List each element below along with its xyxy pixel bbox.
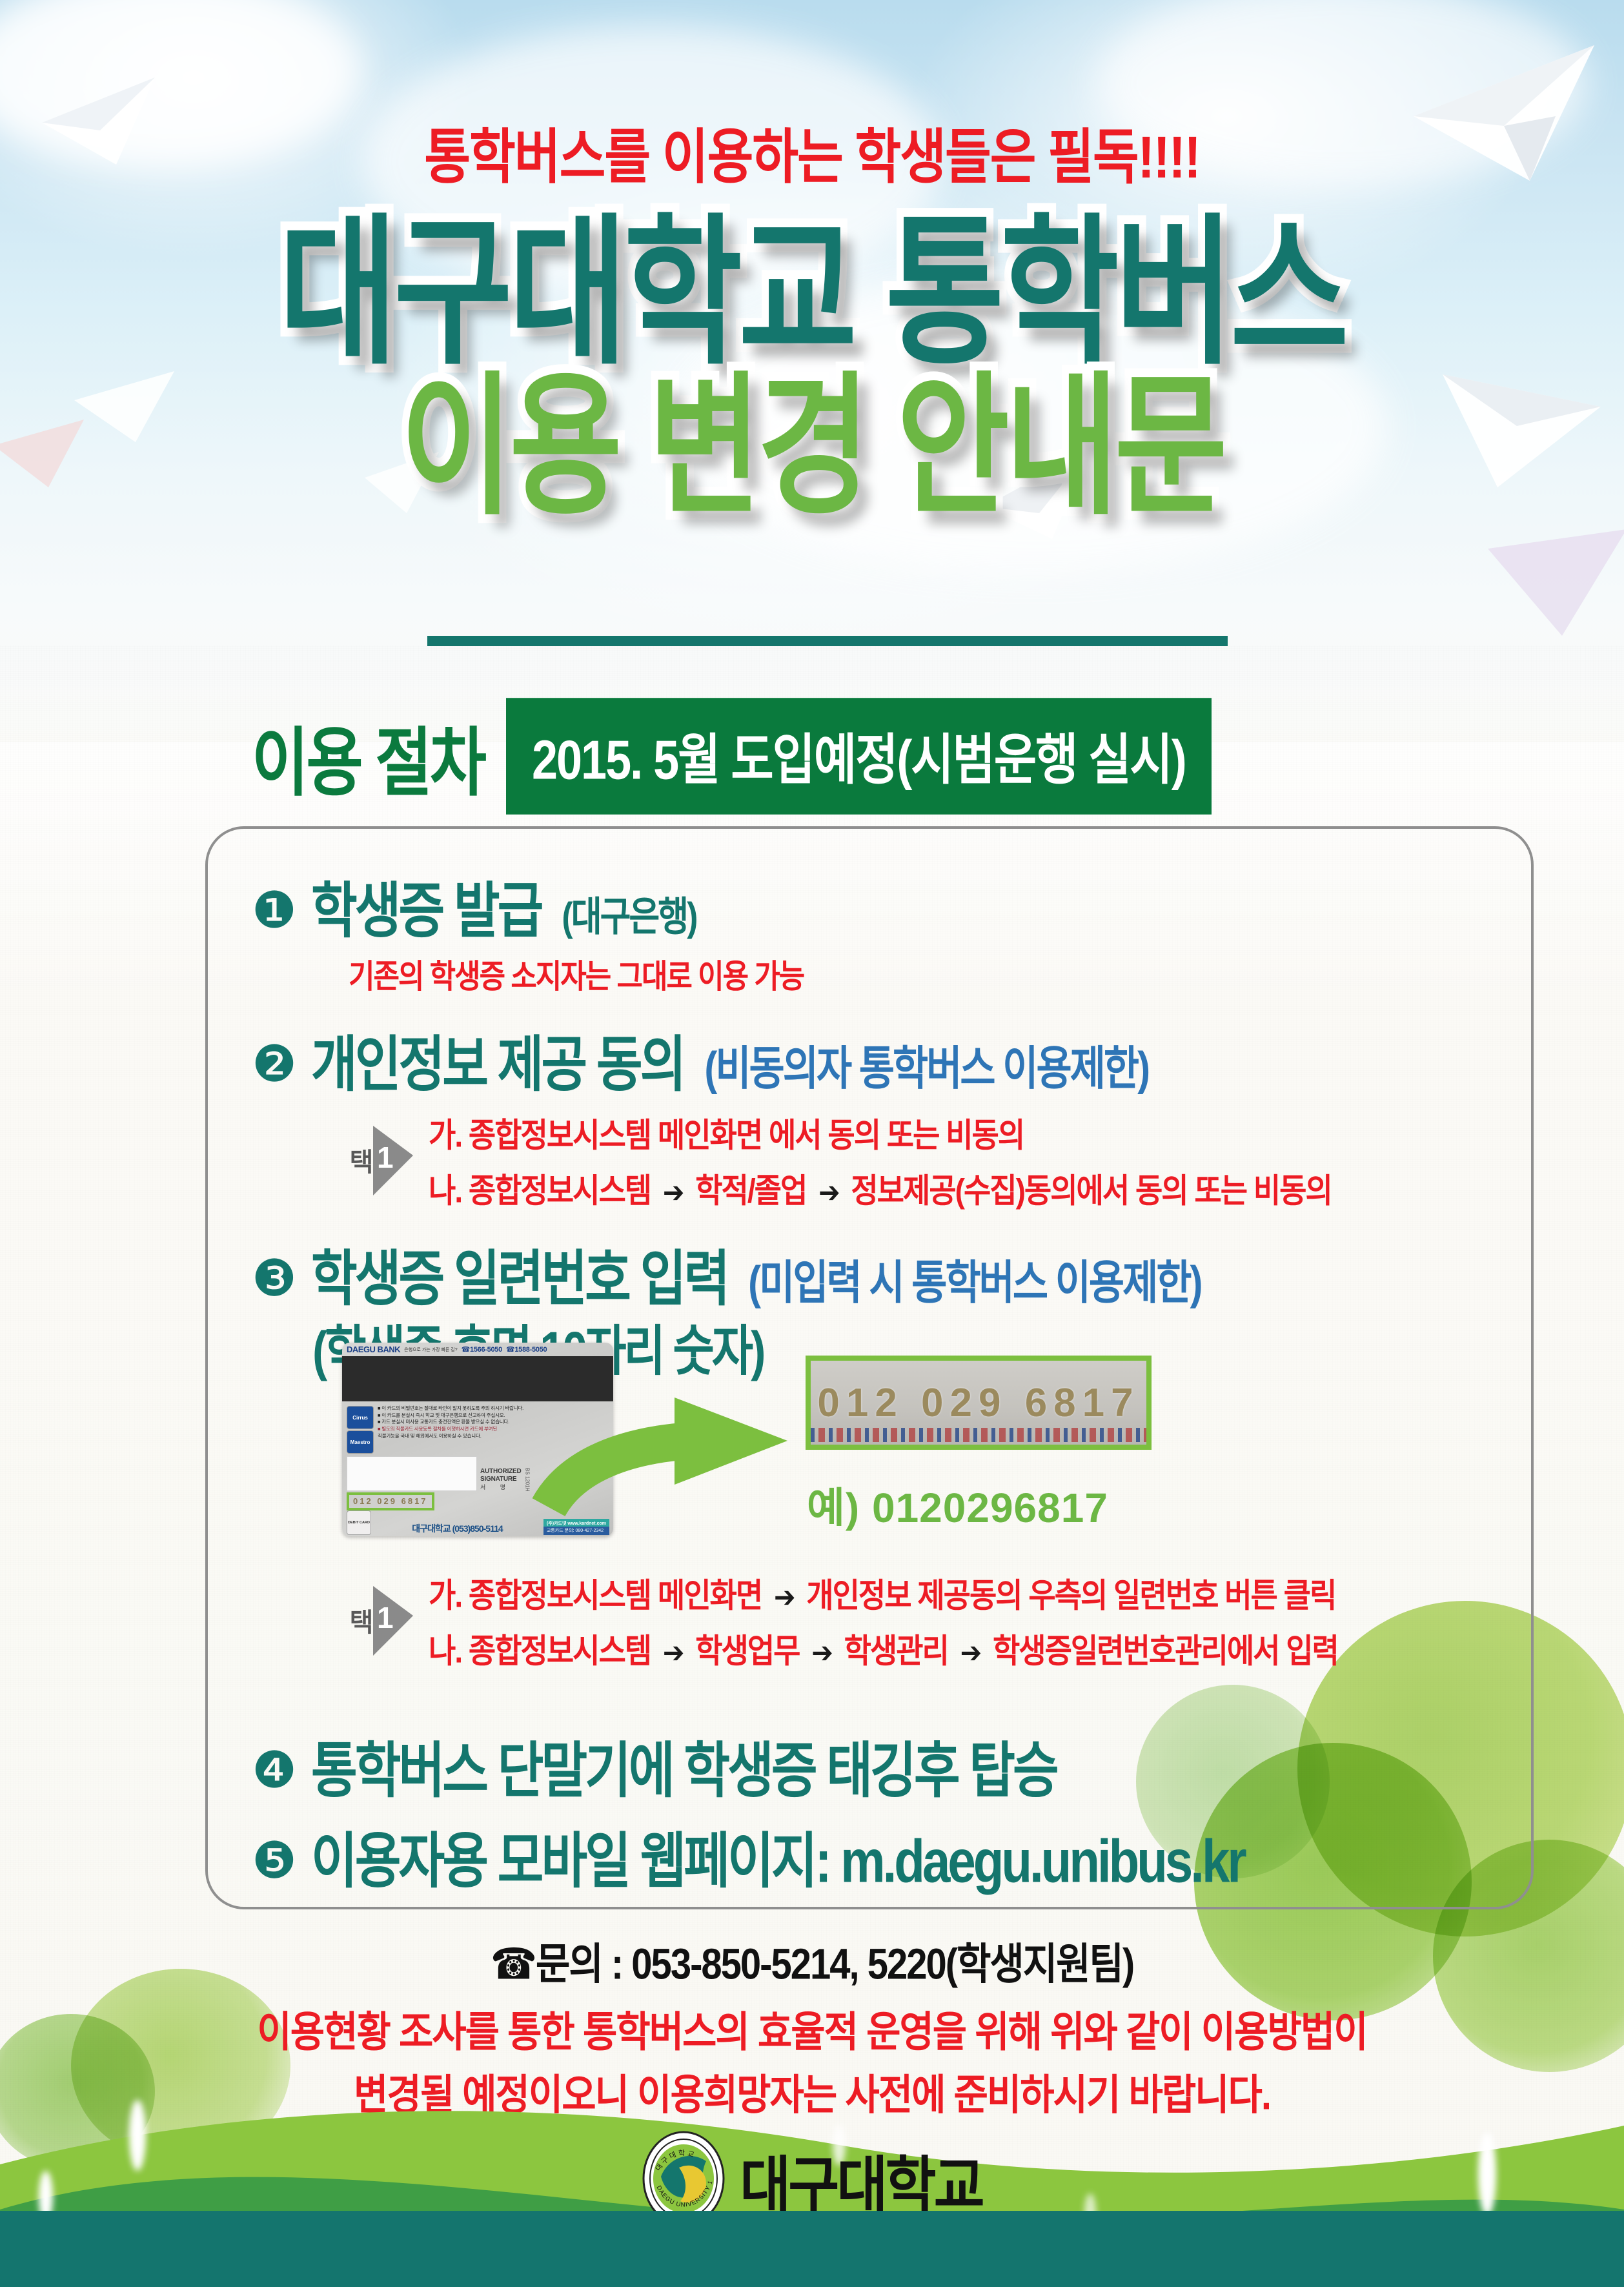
poster-root: 통학버스를 이용하는 학생들은 필독!!!! 대구대학교 통학버스 이용 변경 … bbox=[0, 0, 1624, 2287]
cirrus-label: Cirrus bbox=[352, 1415, 368, 1421]
auth-line-2: SIGNATURE bbox=[480, 1476, 522, 1483]
sub-item-part: 학생업무 bbox=[695, 1632, 799, 1669]
bank-tel-1: ☎1566-5050 bbox=[462, 1345, 502, 1354]
pick-one-marker: 택 1 bbox=[346, 1126, 413, 1195]
arrow-right-icon: ➔ bbox=[806, 1637, 837, 1669]
sub-item-list: 가. 종합정보시스템 메인화면 에서 동의 또는 비동의 나. 종합정보시스템 … bbox=[429, 1112, 1332, 1210]
choose-one-group: 택 1 가. 종합정보시스템 메인화면 ➔ 개인정보 제공동의 우측의 일련번호… bbox=[346, 1572, 1338, 1670]
bank-tel-2: ☎1588-5050 bbox=[506, 1345, 547, 1354]
sub-item-part: 학적/졸업 bbox=[695, 1172, 806, 1209]
title-divider bbox=[427, 636, 1228, 646]
pick-triangle-icon: 1 bbox=[373, 1126, 413, 1195]
pick-number: 1 bbox=[377, 1600, 394, 1635]
title-line-2: 이용 변경 안내문 bbox=[0, 371, 1624, 524]
auth-line-1: AUTHORIZED bbox=[480, 1468, 522, 1476]
footer-bar bbox=[0, 2211, 1624, 2287]
debit-card-logo-icon: DEBIT CARD bbox=[347, 1510, 371, 1535]
serial-highlight-box: 012 029 6817 bbox=[347, 1492, 434, 1510]
card-print-texture bbox=[811, 1428, 1146, 1442]
sub-item-part: 종합정보시스템 메인화면 에서 동의 또는 비동의 bbox=[469, 1116, 1024, 1154]
zoomed-serial-number: 012 029 6817 bbox=[817, 1380, 1139, 1426]
kardnet-line-2: 교통카드 문의: 080-427-2342 bbox=[547, 1527, 606, 1534]
step-subheading: (미입력 시 통학버스 이용제한) bbox=[748, 1245, 1201, 1312]
sub-item: 나. 종합정보시스템 ➔ 학생업무 ➔ 학생관리 ➔ 학생증일련번호관리에서 입… bbox=[429, 1625, 1338, 1672]
student-card-figure: DAEGU BANK 은행으로 가는 가장 빠른 길? ☎1566-5050 ☎… bbox=[342, 1343, 1349, 1556]
cirrus-logo-icon: Cirrus bbox=[347, 1406, 374, 1429]
sub-item-part: 정보제공(수집)동의에서 동의 또는 비동의 bbox=[851, 1172, 1331, 1209]
sub-item-part: 종합정보시스템 bbox=[469, 1172, 651, 1209]
section-label: 이용 절차 bbox=[252, 702, 484, 810]
sub-item-part: 학생관리 bbox=[844, 1632, 948, 1669]
sub-item-part: 종합정보시스템 bbox=[469, 1632, 651, 1669]
sub-item-part: 개인정보 제공동의 우측의 일련번호 버튼 클릭 bbox=[806, 1576, 1335, 1614]
sub-item: 가. 종합정보시스템 메인화면 에서 동의 또는 비동의 bbox=[429, 1109, 1332, 1157]
sub-item-part: 종합정보시스템 메인화면 bbox=[469, 1576, 762, 1614]
card-header-row: DAEGU BANK 은행으로 가는 가장 빠른 길? ☎1566-5050 ☎… bbox=[342, 1343, 613, 1356]
section-badge: 2015. 5월 도입예정(시범운행 실시) bbox=[506, 698, 1212, 815]
serial-example-caption: 예) 0120296817 bbox=[807, 1475, 1108, 1534]
arrow-right-icon: ➔ bbox=[813, 1177, 844, 1208]
maestro-logo-icon: Maestro bbox=[347, 1430, 374, 1454]
card-university-line: 대구대학교 (053)850-5114 bbox=[412, 1522, 502, 1535]
authorized-signature-text: AUTHORIZED SIGNATURE 서 명 bbox=[480, 1468, 522, 1491]
sub-item: 나. 종합정보시스템 ➔ 학적/졸업 ➔ 정보제공(수집)동의에서 동의 또는 … bbox=[429, 1164, 1332, 1212]
signature-panel bbox=[347, 1456, 477, 1491]
step-note: 기존의 학생증 소지자는 그대로 이용 가능 bbox=[349, 950, 1530, 997]
sub-item: 가. 종합정보시스템 메인화면 ➔ 개인정보 제공동의 우측의 일련번호 버튼 … bbox=[429, 1569, 1338, 1617]
paper-airplane-icon bbox=[1485, 510, 1624, 639]
step-number-icon: ❷ bbox=[252, 1039, 297, 1089]
step-item-2: ❷ 개인정보 제공 동의 (비동의자 통학버스 이용제한) 택 1 가. 종합정… bbox=[252, 1024, 1530, 1210]
step-item-4: ❹ 통학버스 단말기에 학생증 태깅후 탑승 bbox=[252, 1730, 1057, 1802]
bank-logo: DAEGU BANK bbox=[347, 1345, 400, 1354]
arrow-right-icon: ➔ bbox=[955, 1637, 986, 1669]
step-subheading: (대구은행) bbox=[562, 884, 696, 942]
maestro-label: Maestro bbox=[350, 1439, 370, 1445]
auth-korean: 서 명 bbox=[480, 1483, 522, 1491]
title-line-1: 대구대학교 통학버스 bbox=[0, 213, 1624, 374]
step-heading: 통학버스 단말기에 학생증 태깅후 탑승 bbox=[311, 1723, 1057, 1809]
network-logos: Cirrus Maestro bbox=[347, 1406, 374, 1454]
pick-number: 1 bbox=[377, 1140, 394, 1175]
serial-zoom-box: 012 029 6817 bbox=[806, 1356, 1152, 1450]
sub-item-prefix: 나. bbox=[429, 1632, 462, 1669]
step-heading: 학생증 발급 bbox=[311, 863, 541, 950]
choose-one-group: 택 1 가. 종합정보시스템 메인화면 에서 동의 또는 비동의 나. 종합정보… bbox=[346, 1112, 1530, 1210]
sub-item-prefix: 가. bbox=[429, 1576, 462, 1614]
card-serial-number: 012 029 6817 bbox=[353, 1496, 428, 1506]
step-subheading: (비동의자 통학버스 이용제한) bbox=[704, 1031, 1148, 1098]
step-number-icon: ❹ bbox=[252, 1745, 297, 1795]
pick-one-marker: 택 1 bbox=[346, 1586, 413, 1656]
pick-label: 택 bbox=[346, 1609, 372, 1633]
arrow-right-icon: ➔ bbox=[769, 1581, 800, 1613]
contact-line: ☎문의 : 053-850-5214, 5220(학생지원팀) bbox=[0, 1929, 1624, 1992]
step-heading: 이용자용 모바일 웹페이지: m.daegu.unibus.kr bbox=[311, 1813, 1244, 1900]
bank-slogan: 은행으로 가는 가장 빠른 길? bbox=[404, 1347, 458, 1353]
step-number-icon: ❺ bbox=[252, 1835, 297, 1886]
kicker-headline: 통학버스를 이용하는 학생들은 필독!!!! bbox=[0, 110, 1624, 195]
step-number-icon: ❶ bbox=[252, 885, 297, 935]
pick-triangle-icon: 1 bbox=[373, 1586, 413, 1656]
sub-item-list: 가. 종합정보시스템 메인화면 ➔ 개인정보 제공동의 우측의 일련번호 버튼 … bbox=[429, 1572, 1338, 1670]
step-heading: 학생증 일련번호 입력 bbox=[311, 1231, 727, 1317]
step-item-1: ❶ 학생증 발급 (대구은행) 기존의 학생증 소지자는 그대로 이용 가능 bbox=[252, 870, 1530, 994]
section-header: 이용 절차 2015. 5월 도입예정(시범운행 실시) bbox=[252, 707, 1212, 806]
arrow-right-icon: ➔ bbox=[658, 1177, 689, 1208]
sub-item-prefix: 가. bbox=[429, 1116, 462, 1154]
curved-arrow-icon bbox=[529, 1368, 833, 1527]
arrow-right-icon: ➔ bbox=[658, 1637, 689, 1669]
step-item-5: ❺ 이용자용 모바일 웹페이지: m.daegu.unibus.kr bbox=[252, 1820, 1244, 1893]
step-number-icon: ❸ bbox=[252, 1253, 297, 1303]
step-heading: 개인정보 제공 동의 bbox=[311, 1017, 684, 1103]
debit-label: DEBIT CARD bbox=[348, 1521, 370, 1525]
steps-list: ❶ 학생증 발급 (대구은행) 기존의 학생증 소지자는 그대로 이용 가능 ❷… bbox=[252, 859, 1530, 1385]
poster-title: 대구대학교 통학버스 이용 변경 안내문 bbox=[0, 213, 1624, 493]
sub-item-prefix: 나. bbox=[429, 1172, 462, 1209]
pick-label: 택 bbox=[346, 1148, 372, 1173]
sub-item-part: 학생증일련번호관리에서 입력 bbox=[993, 1632, 1338, 1669]
